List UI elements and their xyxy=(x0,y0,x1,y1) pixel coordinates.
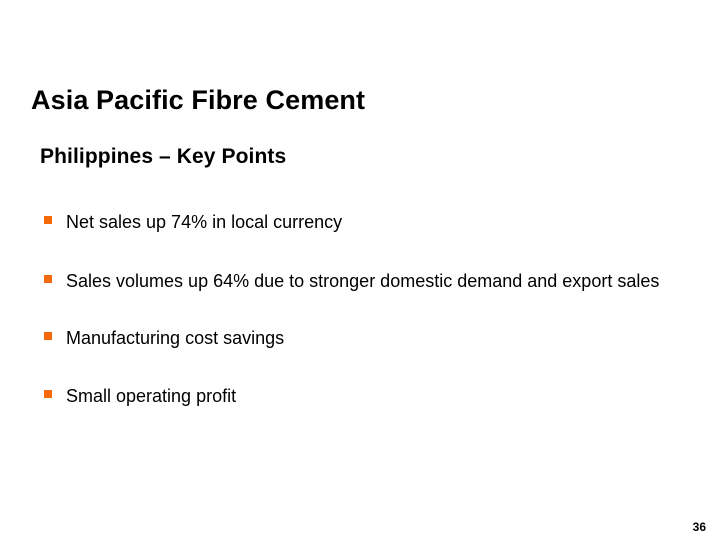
list-spacer xyxy=(44,236,704,267)
page-number: 36 xyxy=(693,520,706,534)
list-spacer xyxy=(44,352,704,382)
list-item: Manufacturing cost savings xyxy=(44,324,704,352)
list-item-label: Manufacturing cost savings xyxy=(66,324,704,352)
list-item-label: Net sales up 74% in local currency xyxy=(66,208,704,236)
list-item-label: Small operating profit xyxy=(66,382,704,410)
slide-subtitle: Philippines – Key Points xyxy=(40,144,286,169)
slide-canvas: Asia Pacific Fibre Cement Philippines – … xyxy=(0,0,720,540)
list-item: Sales volumes up 64% due to stronger dom… xyxy=(44,267,704,295)
list-item: Small operating profit xyxy=(44,382,704,410)
square-bullet-icon xyxy=(44,275,52,283)
square-bullet-icon xyxy=(44,390,52,398)
square-bullet-icon xyxy=(44,332,52,340)
list-item-label: Sales volumes up 64% due to stronger dom… xyxy=(66,267,704,295)
square-bullet-icon xyxy=(44,216,52,224)
list-spacer xyxy=(44,295,704,324)
key-points-list: Net sales up 74% in local currency Sales… xyxy=(44,208,704,410)
page-title: Asia Pacific Fibre Cement xyxy=(31,84,365,116)
list-item: Net sales up 74% in local currency xyxy=(44,208,704,236)
